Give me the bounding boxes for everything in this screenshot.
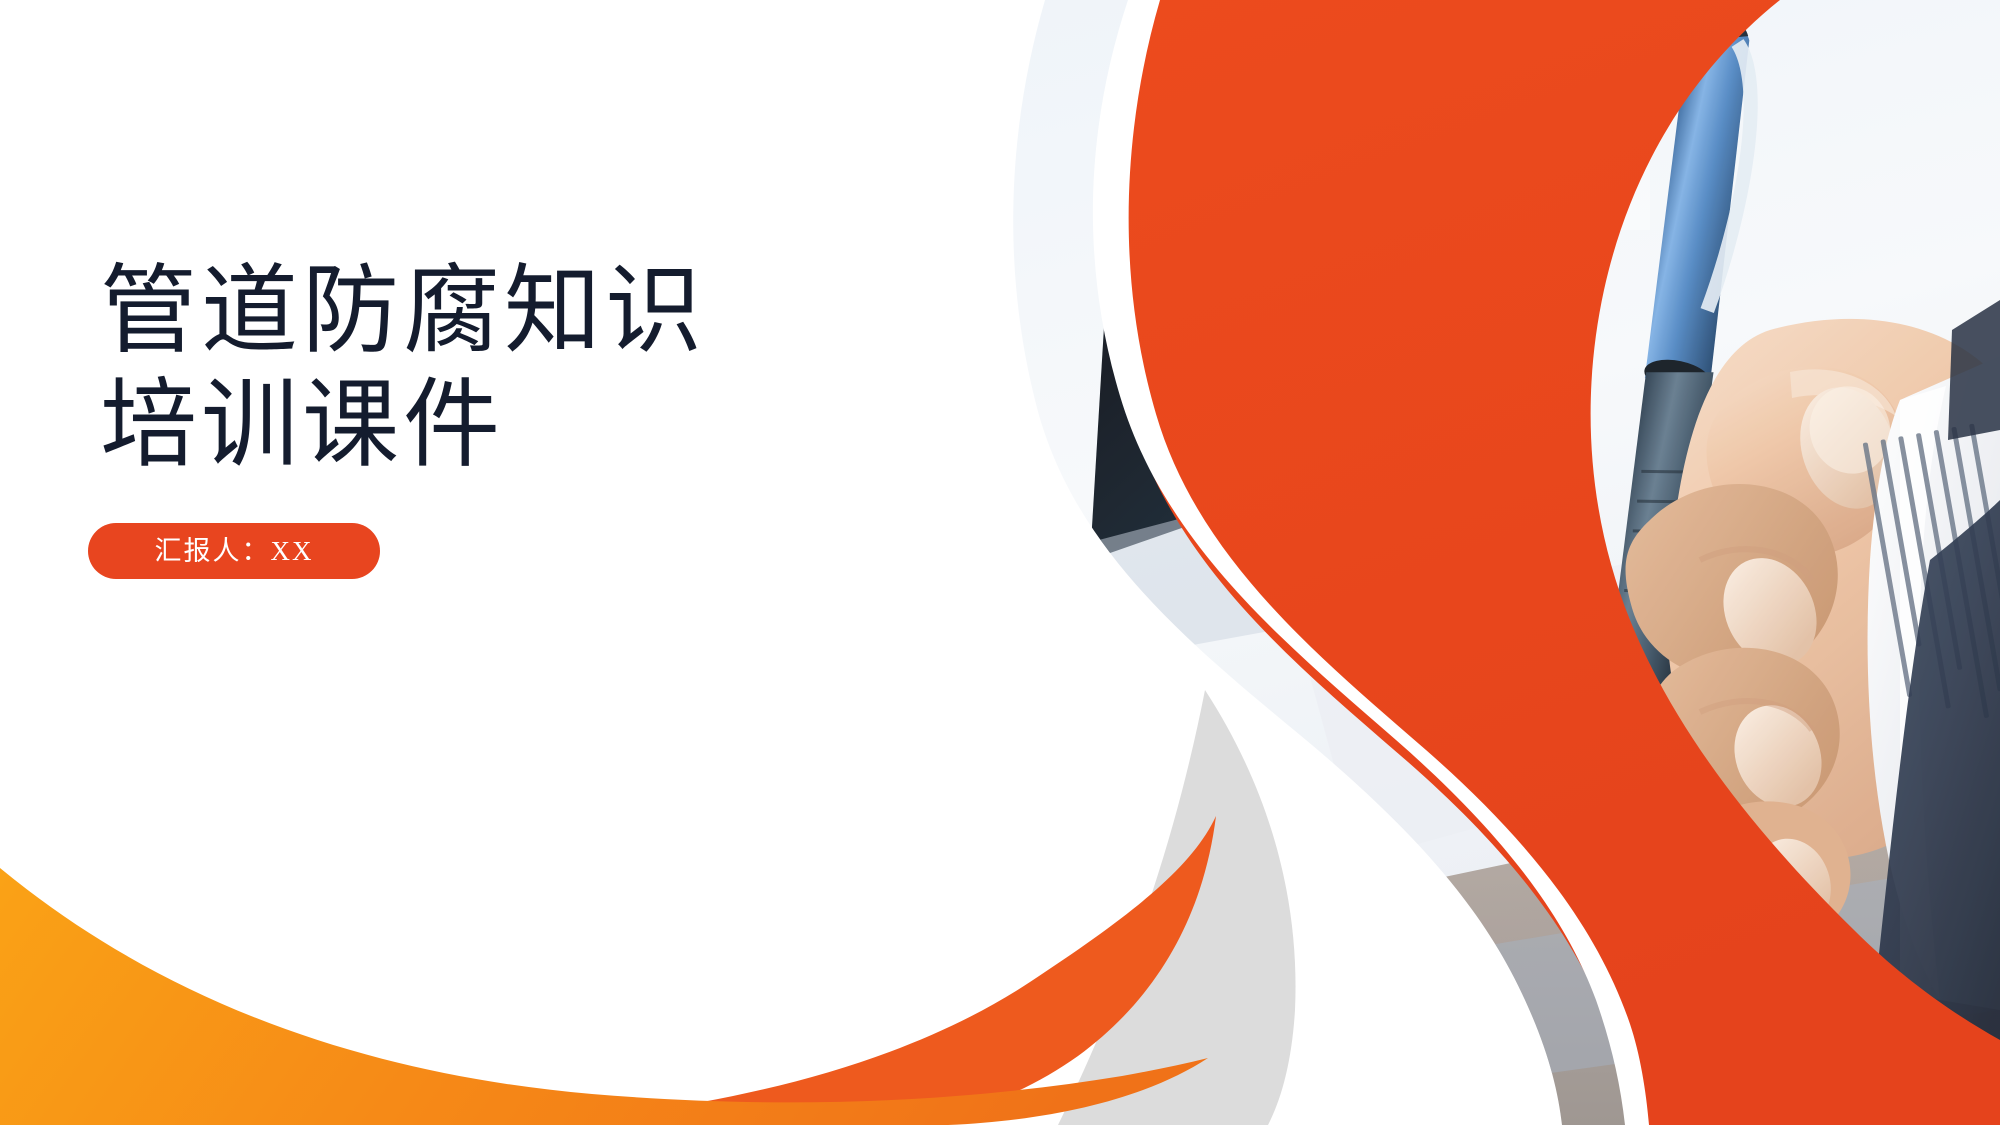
title-slide: 管道防腐知识 培训课件 汇报人：XX (0, 0, 2000, 1125)
slide-text-content: 管道防腐知识 培训课件 汇报人：XX (0, 0, 900, 1125)
title-line-2: 培训课件 (100, 369, 860, 483)
presenter-label: 汇报人：XX (155, 538, 314, 565)
title-line-1: 管道防腐知识 (100, 255, 860, 369)
presenter-badge[interactable]: 汇报人：XX (88, 523, 380, 579)
page-title: 管道防腐知识 培训课件 (100, 255, 860, 483)
